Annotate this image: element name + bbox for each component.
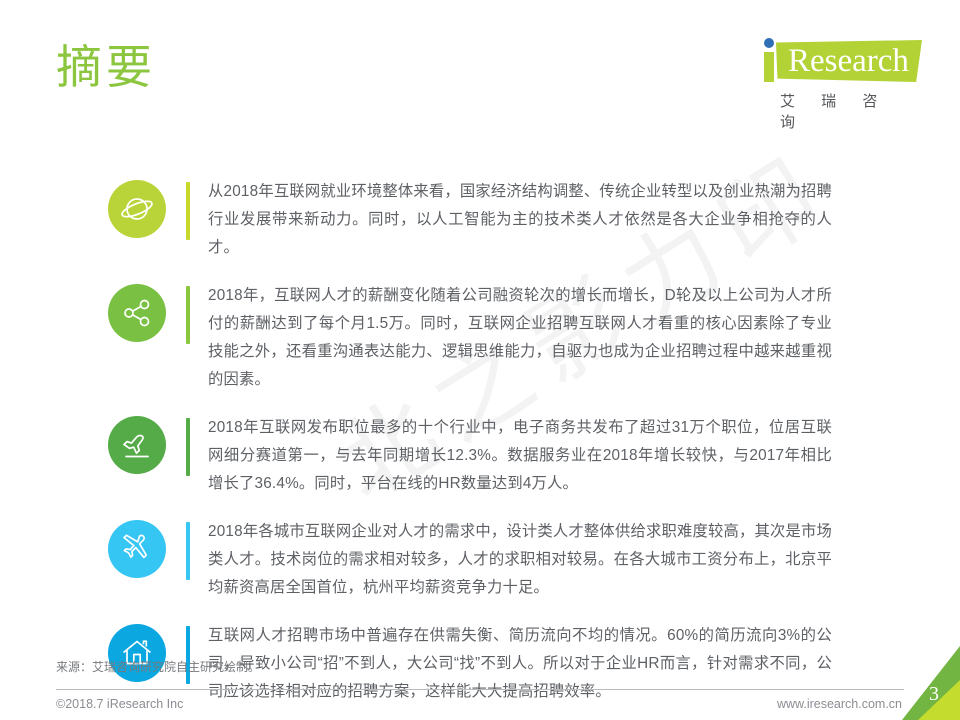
- list-item: 从2018年互联网就业环境整体来看，国家经济结构调整、传统企业转型以及创业热潮为…: [0, 178, 960, 262]
- logo-wordmark: Research: [788, 41, 909, 81]
- list-item: 2018年各城市互联网企业对人才的需求中，设计类人才整体供给求职难度较高，其次是…: [0, 518, 960, 602]
- accent-bar: [186, 286, 190, 344]
- list-item-text: 互联网人才招聘市场中普遍存在供需失衡、简历流向不均的情况。60%的简历流向3%的…: [208, 622, 832, 706]
- page-number: 3: [929, 683, 939, 706]
- slide: 北之影力印 摘要 Research 艾 瑞 咨 询 从2018年互联网就业环境整…: [0, 0, 960, 720]
- list-item-text: 2018年，互联网人才的薪酬变化随着公司融资轮次的增长而增长，D轮及以上公司为人…: [208, 282, 832, 394]
- page-title: 摘要: [56, 44, 156, 90]
- list-item-text: 2018年各城市互联网企业对人才的需求中，设计类人才整体供给求职难度较高，其次是…: [208, 518, 832, 602]
- planet-icon: [108, 180, 166, 238]
- summary-bullet-list: 从2018年互联网就业环境整体来看，国家经济结构调整、传统企业转型以及创业热潮为…: [0, 178, 960, 720]
- copyright-text: ©2018.7 iResearch Inc: [56, 697, 183, 711]
- corner-decoration: [880, 602, 960, 720]
- list-item: 2018年互联网发布职位最多的十个行业中，电子商务共发布了超过31万个职位，位居…: [0, 414, 960, 498]
- accent-bar: [186, 418, 190, 476]
- list-item: 2018年，互联网人才的薪酬变化随着公司融资轮次的增长而增长，D轮及以上公司为人…: [0, 282, 960, 394]
- logo-subtitle: 艾 瑞 咨 询: [780, 90, 922, 132]
- accent-bar: [186, 626, 190, 684]
- accent-bar: [186, 182, 190, 240]
- logo-i-dot-icon: [764, 38, 774, 48]
- airplane-icon: [108, 520, 166, 578]
- share-icon: [108, 284, 166, 342]
- source-note: 来源：艾瑞咨询研究院自主研究绘制。: [56, 658, 260, 675]
- iresearch-logo: Research 艾 瑞 咨 询: [754, 36, 922, 114]
- airplane-takeoff-icon: [108, 416, 166, 474]
- logo-i-stem-icon: [764, 52, 774, 82]
- list-item-text: 从2018年互联网就业环境整体来看，国家经济结构调整、传统企业转型以及创业热潮为…: [208, 178, 832, 262]
- list-item-text: 2018年互联网发布职位最多的十个行业中，电子商务共发布了超过31万个职位，位居…: [208, 414, 832, 498]
- logo-mark: Research: [754, 36, 922, 86]
- accent-bar: [186, 522, 190, 580]
- footer-divider: [56, 689, 904, 690]
